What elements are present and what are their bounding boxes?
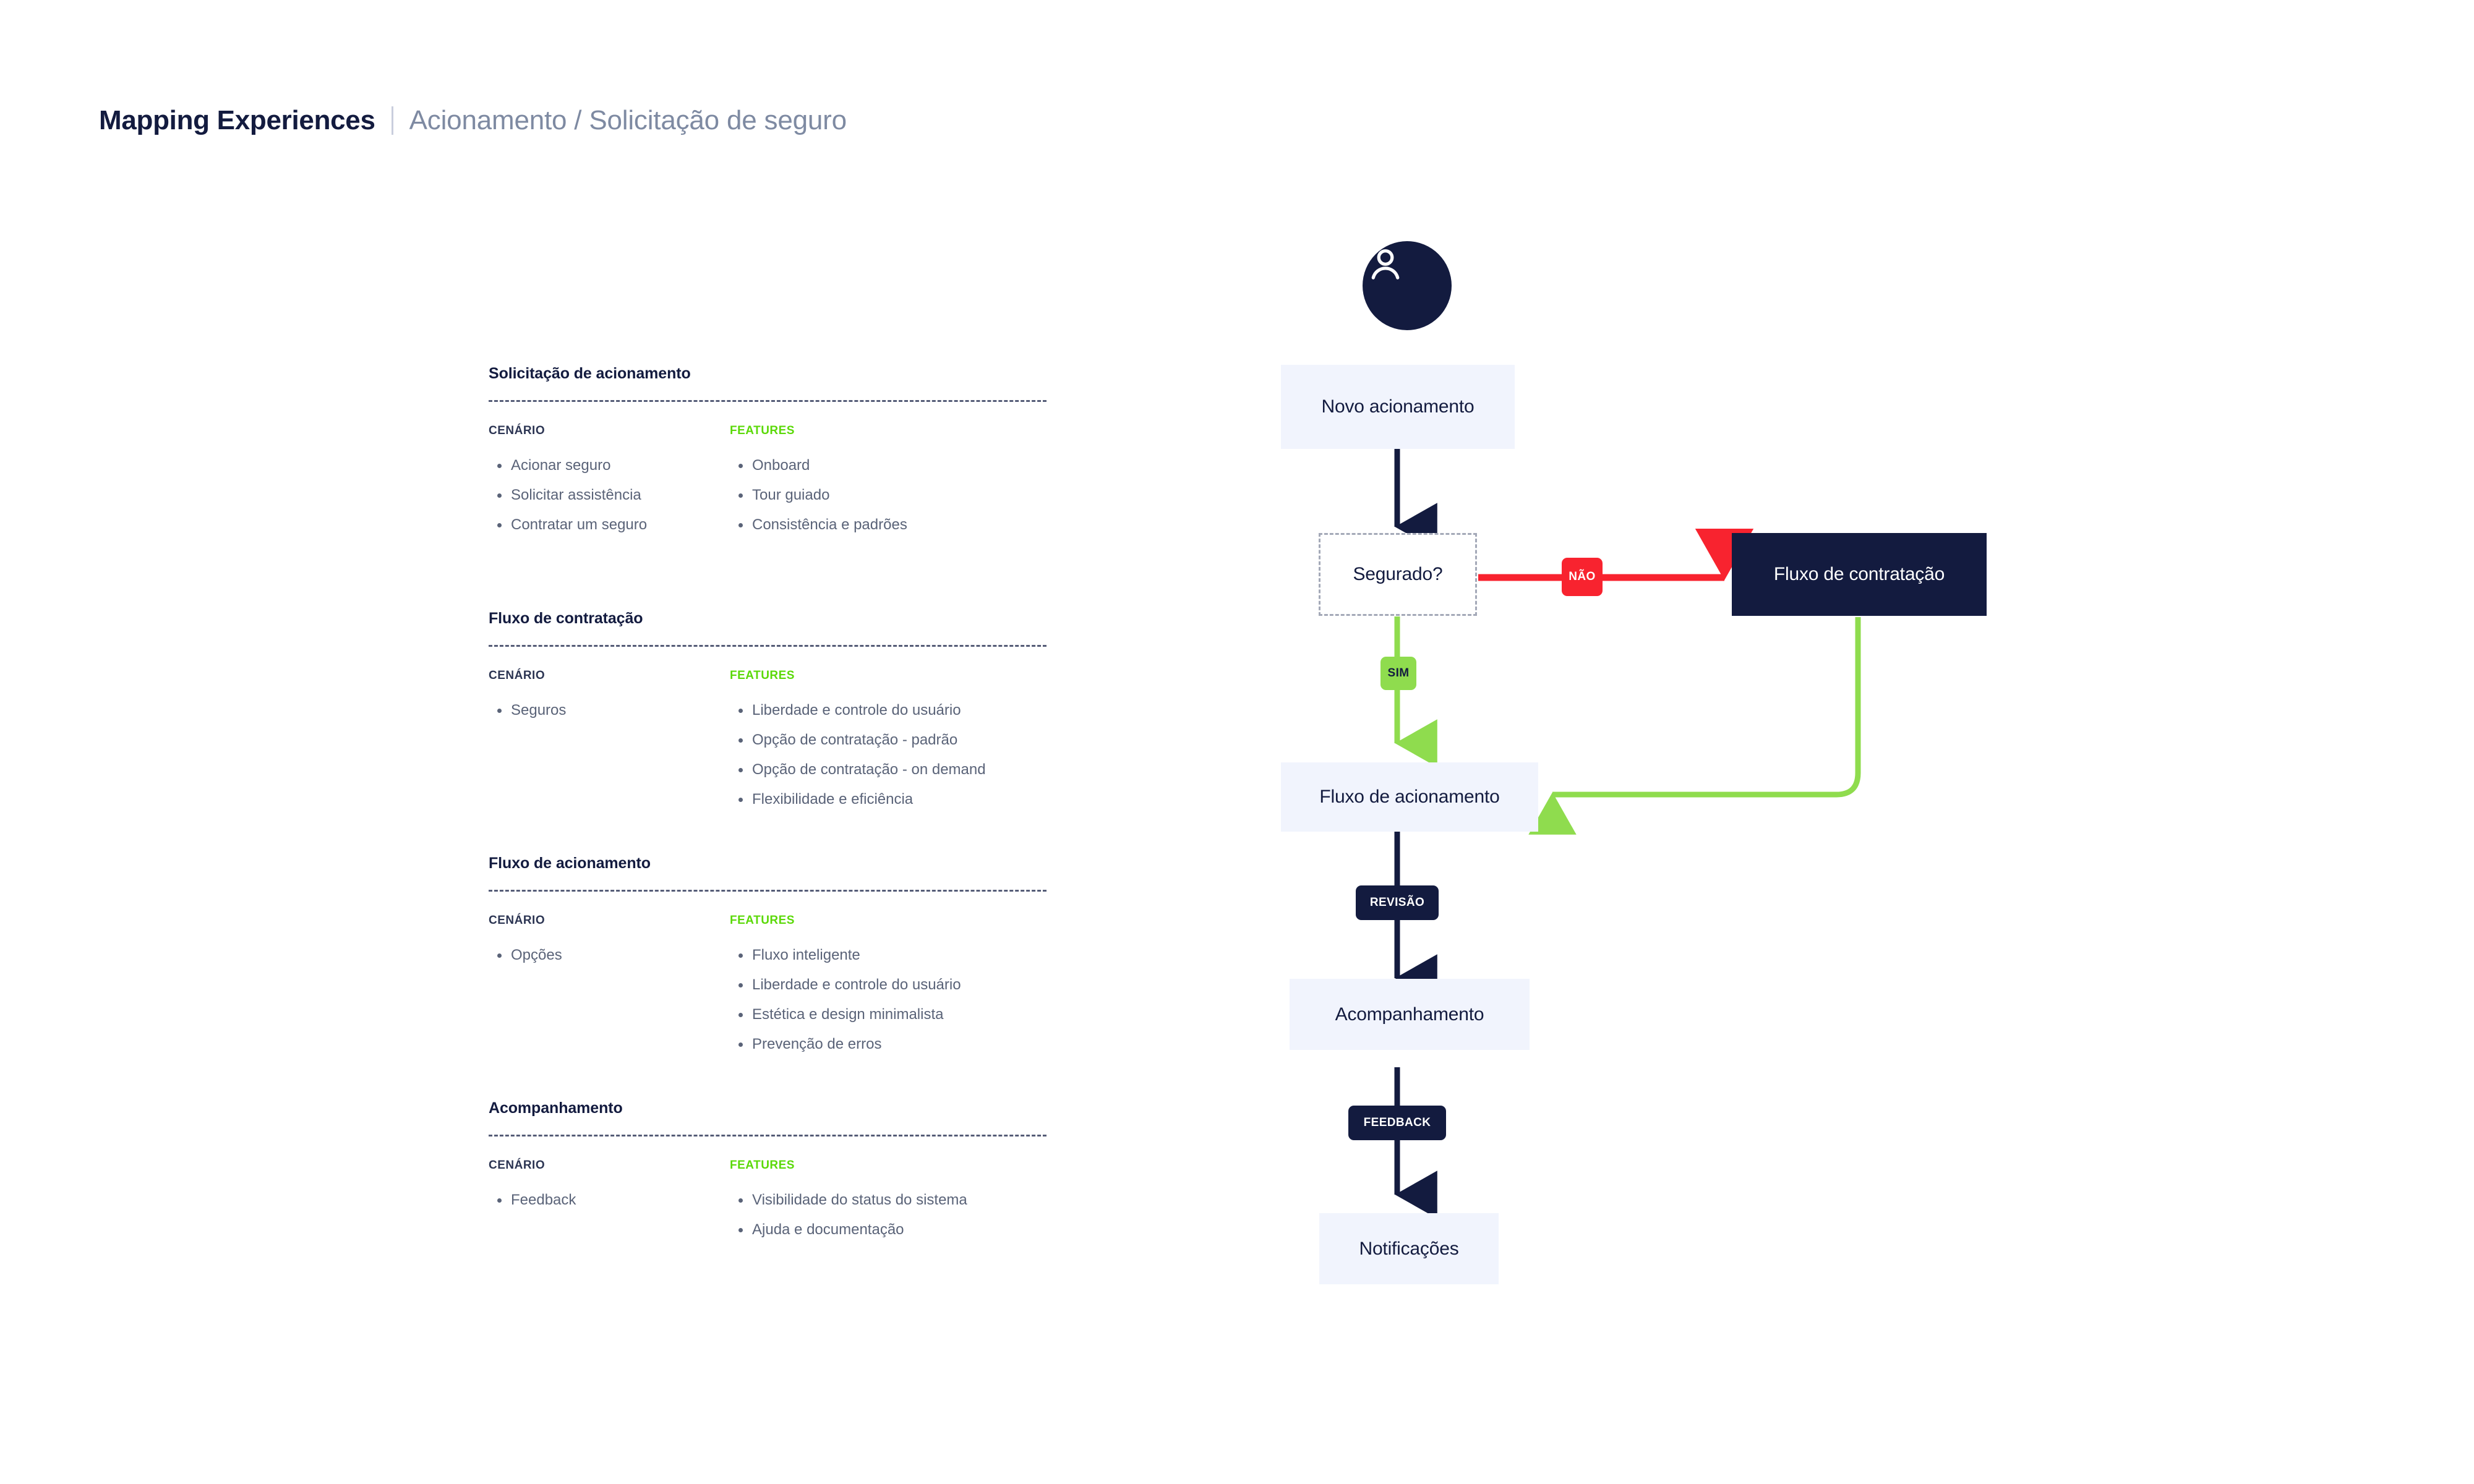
node-notificacoes[interactable]: Notificações xyxy=(1319,1213,1499,1284)
node-fluxo-contratacao[interactable]: Fluxo de contratação xyxy=(1732,533,1987,616)
node-segurado-decision[interactable]: Segurado? xyxy=(1319,533,1477,616)
node-fluxo-acionamento[interactable]: Fluxo de acionamento xyxy=(1281,762,1538,832)
flow-diagram: Novo acionamento Segurado? Fluxo de cont… xyxy=(0,0,2474,1484)
edge-label-feedback: FEEDBACK xyxy=(1348,1106,1446,1140)
edge-contratacao-to-acionamento xyxy=(1552,617,1858,795)
user-avatar xyxy=(1363,241,1452,330)
node-novo-acionamento[interactable]: Novo acionamento xyxy=(1281,365,1515,449)
page-root: Mapping Experiences Acionamento / Solici… xyxy=(0,0,2474,1484)
edge-label-nao: NÃO xyxy=(1562,558,1603,596)
edge-label-sim: SIM xyxy=(1380,657,1416,690)
edge-label-revisao: REVISÃO xyxy=(1356,885,1439,920)
user-icon xyxy=(1363,241,1408,287)
flow-connectors xyxy=(0,0,2474,1484)
node-acompanhamento[interactable]: Acompanhamento xyxy=(1290,979,1530,1050)
